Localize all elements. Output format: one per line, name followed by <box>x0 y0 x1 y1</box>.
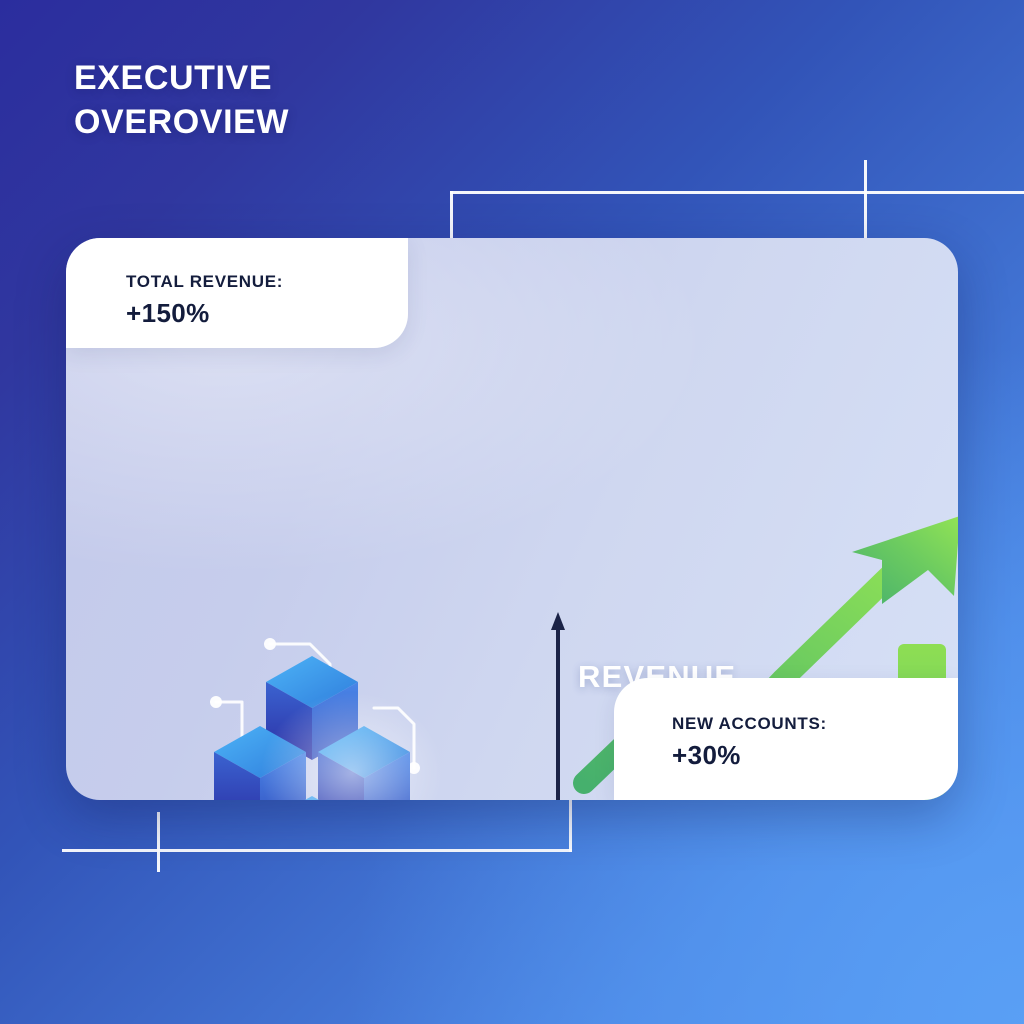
deco-line-top-left-stub <box>450 191 453 243</box>
page-title: EXECUTIVE OVEROVIEW <box>74 56 289 144</box>
deco-line-top-right-tick <box>864 160 867 244</box>
deco-line-bottom-horizontal <box>62 849 572 852</box>
metric-value: +30% <box>672 740 958 771</box>
y-axis-arrow-icon <box>551 612 565 630</box>
metric-card-new-accounts[interactable]: NEW ACCOUNTS: +30% <box>614 678 958 800</box>
deco-line-top-horizontal <box>450 191 1024 194</box>
poster-canvas: EXECUTIVE OVEROVIEW <box>0 0 1024 1024</box>
deco-line-bottom-left-tick <box>157 812 160 872</box>
deco-line-bottom-right-stub <box>569 800 572 852</box>
cubes-glow <box>222 658 482 800</box>
metric-card-total-revenue[interactable]: TOTAL REVENUE: +150% <box>66 238 408 348</box>
blockchain-cubes-icon <box>202 628 502 800</box>
metric-value: +150% <box>126 298 408 329</box>
metric-label: TOTAL REVENUE: <box>126 272 408 292</box>
padlock-svg <box>410 796 500 800</box>
padlock-icon <box>410 796 500 800</box>
metric-label: NEW ACCOUNTS: <box>672 714 958 734</box>
dashboard-panel: REVENUE TOTAL REVENUE: +150% NEW ACCOUNT… <box>66 238 958 800</box>
